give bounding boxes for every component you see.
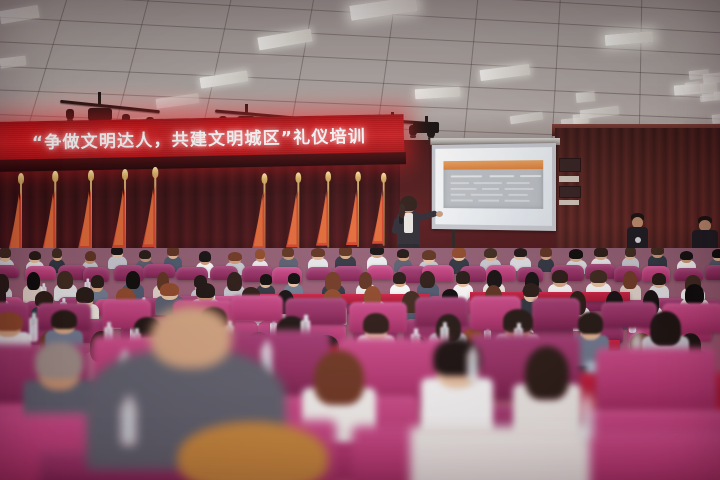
ceiling-light-panel	[576, 91, 596, 103]
ceiling-light-panel	[684, 81, 700, 92]
flag-banner-highlight	[80, 191, 89, 246]
audience-member-hair	[594, 248, 608, 257]
audience-member-hair	[199, 251, 211, 262]
audience-member-hair	[85, 251, 96, 261]
audience-member-hair	[712, 249, 720, 258]
seminar-photo: “争做文明达人，共建文明城区”礼仪培训	[0, 0, 720, 480]
presenter-hand	[436, 211, 443, 217]
audience-member-hair	[680, 251, 693, 260]
audience-member-hair	[35, 342, 82, 379]
audience-member-hair	[167, 248, 179, 256]
flag-banner-highlight	[254, 193, 263, 246]
audience-member-hair	[339, 248, 352, 256]
projection-screen	[432, 143, 556, 231]
audience-member-hair	[393, 272, 406, 284]
flag-banner-highlight	[144, 188, 153, 244]
ceiling-light-panel	[711, 113, 720, 124]
audience-member-hair	[484, 248, 498, 258]
presenter-top	[404, 213, 413, 233]
audience-member-hair	[311, 248, 325, 257]
audience-member-head	[150, 306, 232, 368]
audience-member-hair	[52, 248, 62, 258]
screen-surface	[435, 147, 552, 226]
slide-content	[443, 160, 543, 209]
audience-member-hair	[27, 272, 41, 290]
audience-member-hair	[569, 249, 583, 259]
audience-member-hair	[397, 249, 409, 258]
flag-banner-highlight	[374, 192, 382, 242]
wall-trim	[559, 200, 579, 205]
auditorium-seat	[705, 265, 720, 280]
flag-banner-highlight	[318, 191, 326, 243]
audience-member-hair	[51, 310, 77, 329]
water-bottle	[580, 401, 594, 440]
flag-banner-highlight	[10, 194, 19, 249]
audience-member-hair	[452, 248, 466, 258]
ceiling-light-panel	[573, 113, 590, 125]
audience-member-hair	[652, 273, 666, 285]
flag-banner-highlight	[114, 190, 123, 245]
ceiling-light-panel	[688, 69, 709, 80]
wall-trim	[559, 176, 579, 182]
flag-banner-highlight	[348, 191, 356, 242]
banner-text: “争做文明达人，共建文明城区”礼仪培训	[0, 121, 404, 154]
audience-member-hair	[552, 270, 568, 283]
wall-speaker-panel	[559, 186, 581, 198]
audience-member-hair	[456, 271, 469, 283]
slide-header-bar	[443, 160, 543, 170]
audience-member-hair	[625, 248, 636, 257]
flag-banner-highlight	[44, 192, 53, 248]
audience-member-torso	[410, 426, 590, 480]
audience-member-hair	[228, 252, 242, 261]
audience-member-hair	[0, 248, 11, 258]
audience-member-hair	[370, 248, 383, 255]
audience-member-hair	[422, 250, 435, 260]
audience-member-hair	[282, 248, 294, 257]
audience-member-hair	[29, 251, 41, 261]
audience-member-hair	[540, 248, 551, 257]
audience-member-hair	[514, 248, 528, 257]
audience-member-hair	[651, 248, 664, 255]
audience-member-hair	[111, 248, 124, 255]
audience-member-hair	[288, 273, 301, 284]
audience-member-hair	[139, 250, 151, 260]
audience-member-hair	[590, 270, 606, 282]
audience-member-hair	[260, 274, 273, 285]
foreground-blur-layer	[0, 392, 720, 480]
wall-speaker-panel	[559, 158, 581, 172]
water-bottle	[121, 404, 135, 446]
flag-banner-highlight	[288, 192, 297, 244]
presenter-hair-side	[399, 204, 405, 218]
audience-member-hair	[420, 271, 435, 289]
audience-member-hair	[0, 312, 23, 332]
audience-member-hair	[623, 271, 637, 290]
water-bottle	[467, 352, 477, 382]
audience-member-hair	[255, 249, 265, 259]
